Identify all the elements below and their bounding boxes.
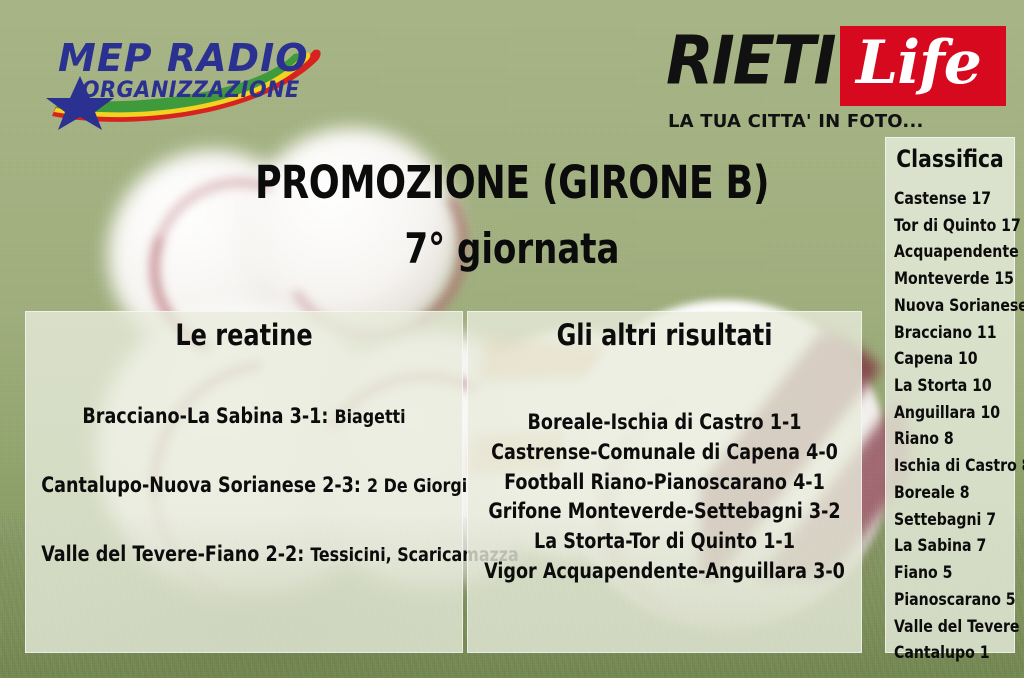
- panel-local-results: Le reatine Bracciano-La Sabina 3-1: Biag…: [25, 311, 463, 653]
- standings-row: Fiano 5: [894, 560, 1004, 587]
- other-result-row: Boreale-Ischia di Castro 1-1: [482, 408, 847, 438]
- title-league: PROMOZIONE (GIRONE B): [51, 160, 973, 206]
- panel-title-local: Le reatine: [43, 318, 444, 352]
- standings-row: Monteverde 15: [894, 266, 1004, 293]
- other-result-row: Grifone Monteverde-Settebagni 3-2: [482, 497, 847, 527]
- panel-other-results: Gli altri risultati Boreale-Ischia di Ca…: [467, 311, 862, 653]
- panel-title-other: Gli altri risultati: [484, 318, 846, 352]
- mep-radio-logo[interactable]: MEP RADIO ORGANIZZAZIONE: [22, 20, 332, 130]
- local-results-list: Bracciano-La Sabina 3-1: BiagettiCantalu…: [26, 404, 462, 611]
- other-result-row: La Storta-Tor di Quinto 1-1: [482, 527, 847, 557]
- standings-list: Castense 17Tor di Quinto 17Acquapendente…: [894, 186, 1010, 667]
- standings-row: Nuova Sorianese 14: [894, 293, 1004, 320]
- life-wordmark: Life: [856, 28, 981, 98]
- standings-row: Riano 8: [894, 426, 1004, 453]
- standings-row: Valle del Tevere 3: [894, 614, 1004, 641]
- panel-title-standings: Classifica: [890, 145, 1010, 173]
- title-matchday: 7° giornata: [51, 224, 973, 273]
- result-scorers: 2 De Giorgi: [367, 475, 467, 497]
- result-match: Bracciano-La Sabina 3-1:: [82, 404, 334, 428]
- rieti-tagline: LA TUA CITTA' IN FOTO...: [668, 111, 924, 132]
- rieti-wordmark: RIETI: [666, 21, 835, 100]
- panel-standings: Classifica Castense 17Tor di Quinto 17Ac…: [885, 137, 1015, 653]
- standings-row: Boreale 8: [894, 480, 1004, 507]
- mep-radio-wordmark: MEP RADIO: [58, 36, 309, 80]
- standings-row: Ischia di Castro 8: [894, 453, 1004, 480]
- other-result-row: Vigor Acquapendente-Anguillara 3-0: [482, 557, 847, 587]
- standings-row: Acquapendente 16: [894, 239, 1004, 266]
- standings-row: Capena 10: [894, 346, 1004, 373]
- page-title: PROMOZIONE (GIRONE B) 7° giornata: [0, 160, 1024, 273]
- other-result-row: Castrense-Comunale di Capena 4-0: [482, 438, 847, 468]
- standings-row: Castense 17: [894, 186, 1004, 213]
- poster-canvas: MEP RADIO ORGANIZZAZIONE RIETI Life LA T…: [0, 0, 1024, 678]
- standings-row: Tor di Quinto 17: [894, 213, 1004, 240]
- local-result-row: Cantalupo-Nuova Sorianese 2-3: 2 De Gior…: [41, 473, 446, 497]
- standings-row: La Sabina 7: [894, 533, 1004, 560]
- standings-row: Bracciano 11: [894, 320, 1004, 347]
- local-result-row: Bracciano-La Sabina 3-1: Biagetti: [41, 404, 446, 428]
- result-match: Valle del Tevere-Fiano 2-2:: [41, 542, 310, 566]
- result-scorers: Biagetti: [335, 406, 406, 428]
- standings-row: La Storta 10: [894, 373, 1004, 400]
- local-result-row: Valle del Tevere-Fiano 2-2: Tessicini, S…: [41, 542, 446, 566]
- standings-row: Pianoscarano 5: [894, 587, 1004, 614]
- result-match: Cantalupo-Nuova Sorianese 2-3:: [41, 473, 367, 497]
- standings-row: Settebagni 7: [894, 507, 1004, 534]
- other-result-row: Football Riano-Pianoscarano 4-1: [482, 468, 847, 498]
- mep-radio-subtitle: ORGANIZZAZIONE: [82, 78, 300, 103]
- rieti-life-logo[interactable]: RIETI Life LA TUA CITTA' IN FOTO...: [660, 18, 1010, 138]
- standings-row: Cantalupo 1: [894, 640, 1004, 667]
- other-results-list: Boreale-Ischia di Castro 1-1Castrense-Co…: [468, 408, 861, 587]
- standings-row: Anguillara 10: [894, 400, 1004, 427]
